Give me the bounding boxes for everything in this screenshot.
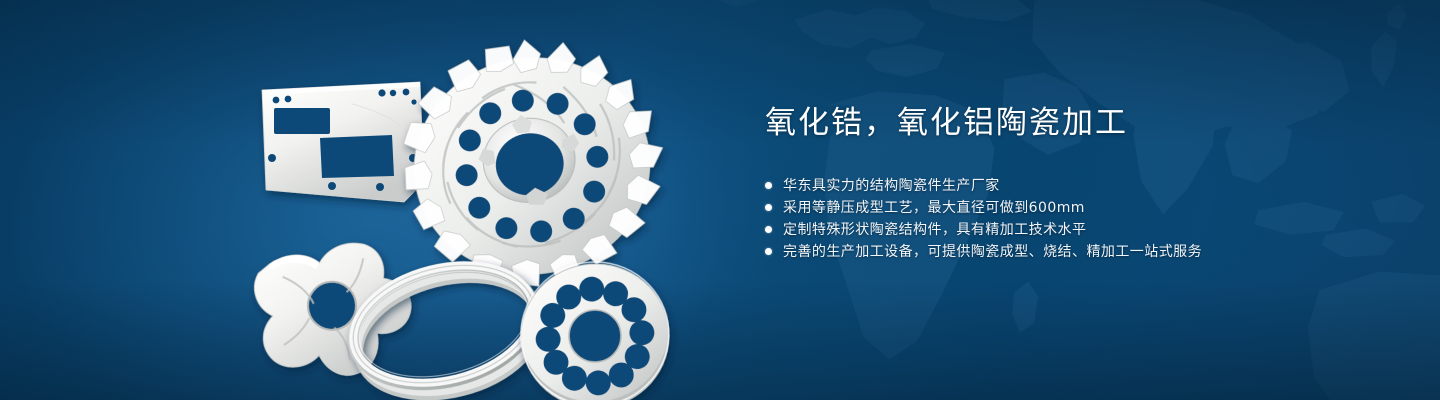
ceramic-products-image xyxy=(232,38,702,386)
bullet-dot-icon xyxy=(765,226,772,233)
banner-copy: 氧化锆，氧化铝陶瓷加工 华东具实力的结构陶瓷件生产厂家 采用等静压成型工艺，最大… xyxy=(765,104,1365,263)
list-item: 华东具实力的结构陶瓷件生产厂家 xyxy=(765,175,1365,197)
ceramic-impeller-disc xyxy=(388,23,680,303)
feature-text: 完善的生产加工设备，可提供陶瓷成型、烧结、精加工一站式服务 xyxy=(783,241,1202,263)
feature-text: 采用等静压成型工艺，最大直径可做到600mm xyxy=(783,197,1085,219)
page-title: 氧化锆，氧化铝陶瓷加工 xyxy=(765,104,1365,143)
bullet-dot-icon xyxy=(765,248,772,255)
list-item: 定制特殊形状陶瓷结构件，具有精加工技术水平 xyxy=(765,219,1365,241)
ceramic-cross-blade xyxy=(251,238,418,385)
feature-text: 华东具实力的结构陶瓷件生产厂家 xyxy=(783,175,1000,197)
ceramic-mounting-plate xyxy=(262,82,424,202)
list-item: 采用等静压成型工艺，最大直径可做到600mm xyxy=(765,197,1365,219)
feature-list: 华东具实力的结构陶瓷件生产厂家 采用等静压成型工艺，最大直径可做到600mm 定… xyxy=(765,175,1365,263)
bullet-dot-icon xyxy=(765,182,772,189)
list-item: 完善的生产加工设备，可提供陶瓷成型、烧结、精加工一站式服务 xyxy=(765,241,1365,263)
feature-text: 定制特殊形状陶瓷结构件，具有精加工技术水平 xyxy=(783,219,1086,241)
hero-banner: 氧化锆，氧化铝陶瓷加工 华东具实力的结构陶瓷件生产厂家 采用等静压成型工艺，最大… xyxy=(0,0,1440,400)
ceramic-perforated-disc xyxy=(516,257,674,400)
bullet-dot-icon xyxy=(765,204,772,211)
